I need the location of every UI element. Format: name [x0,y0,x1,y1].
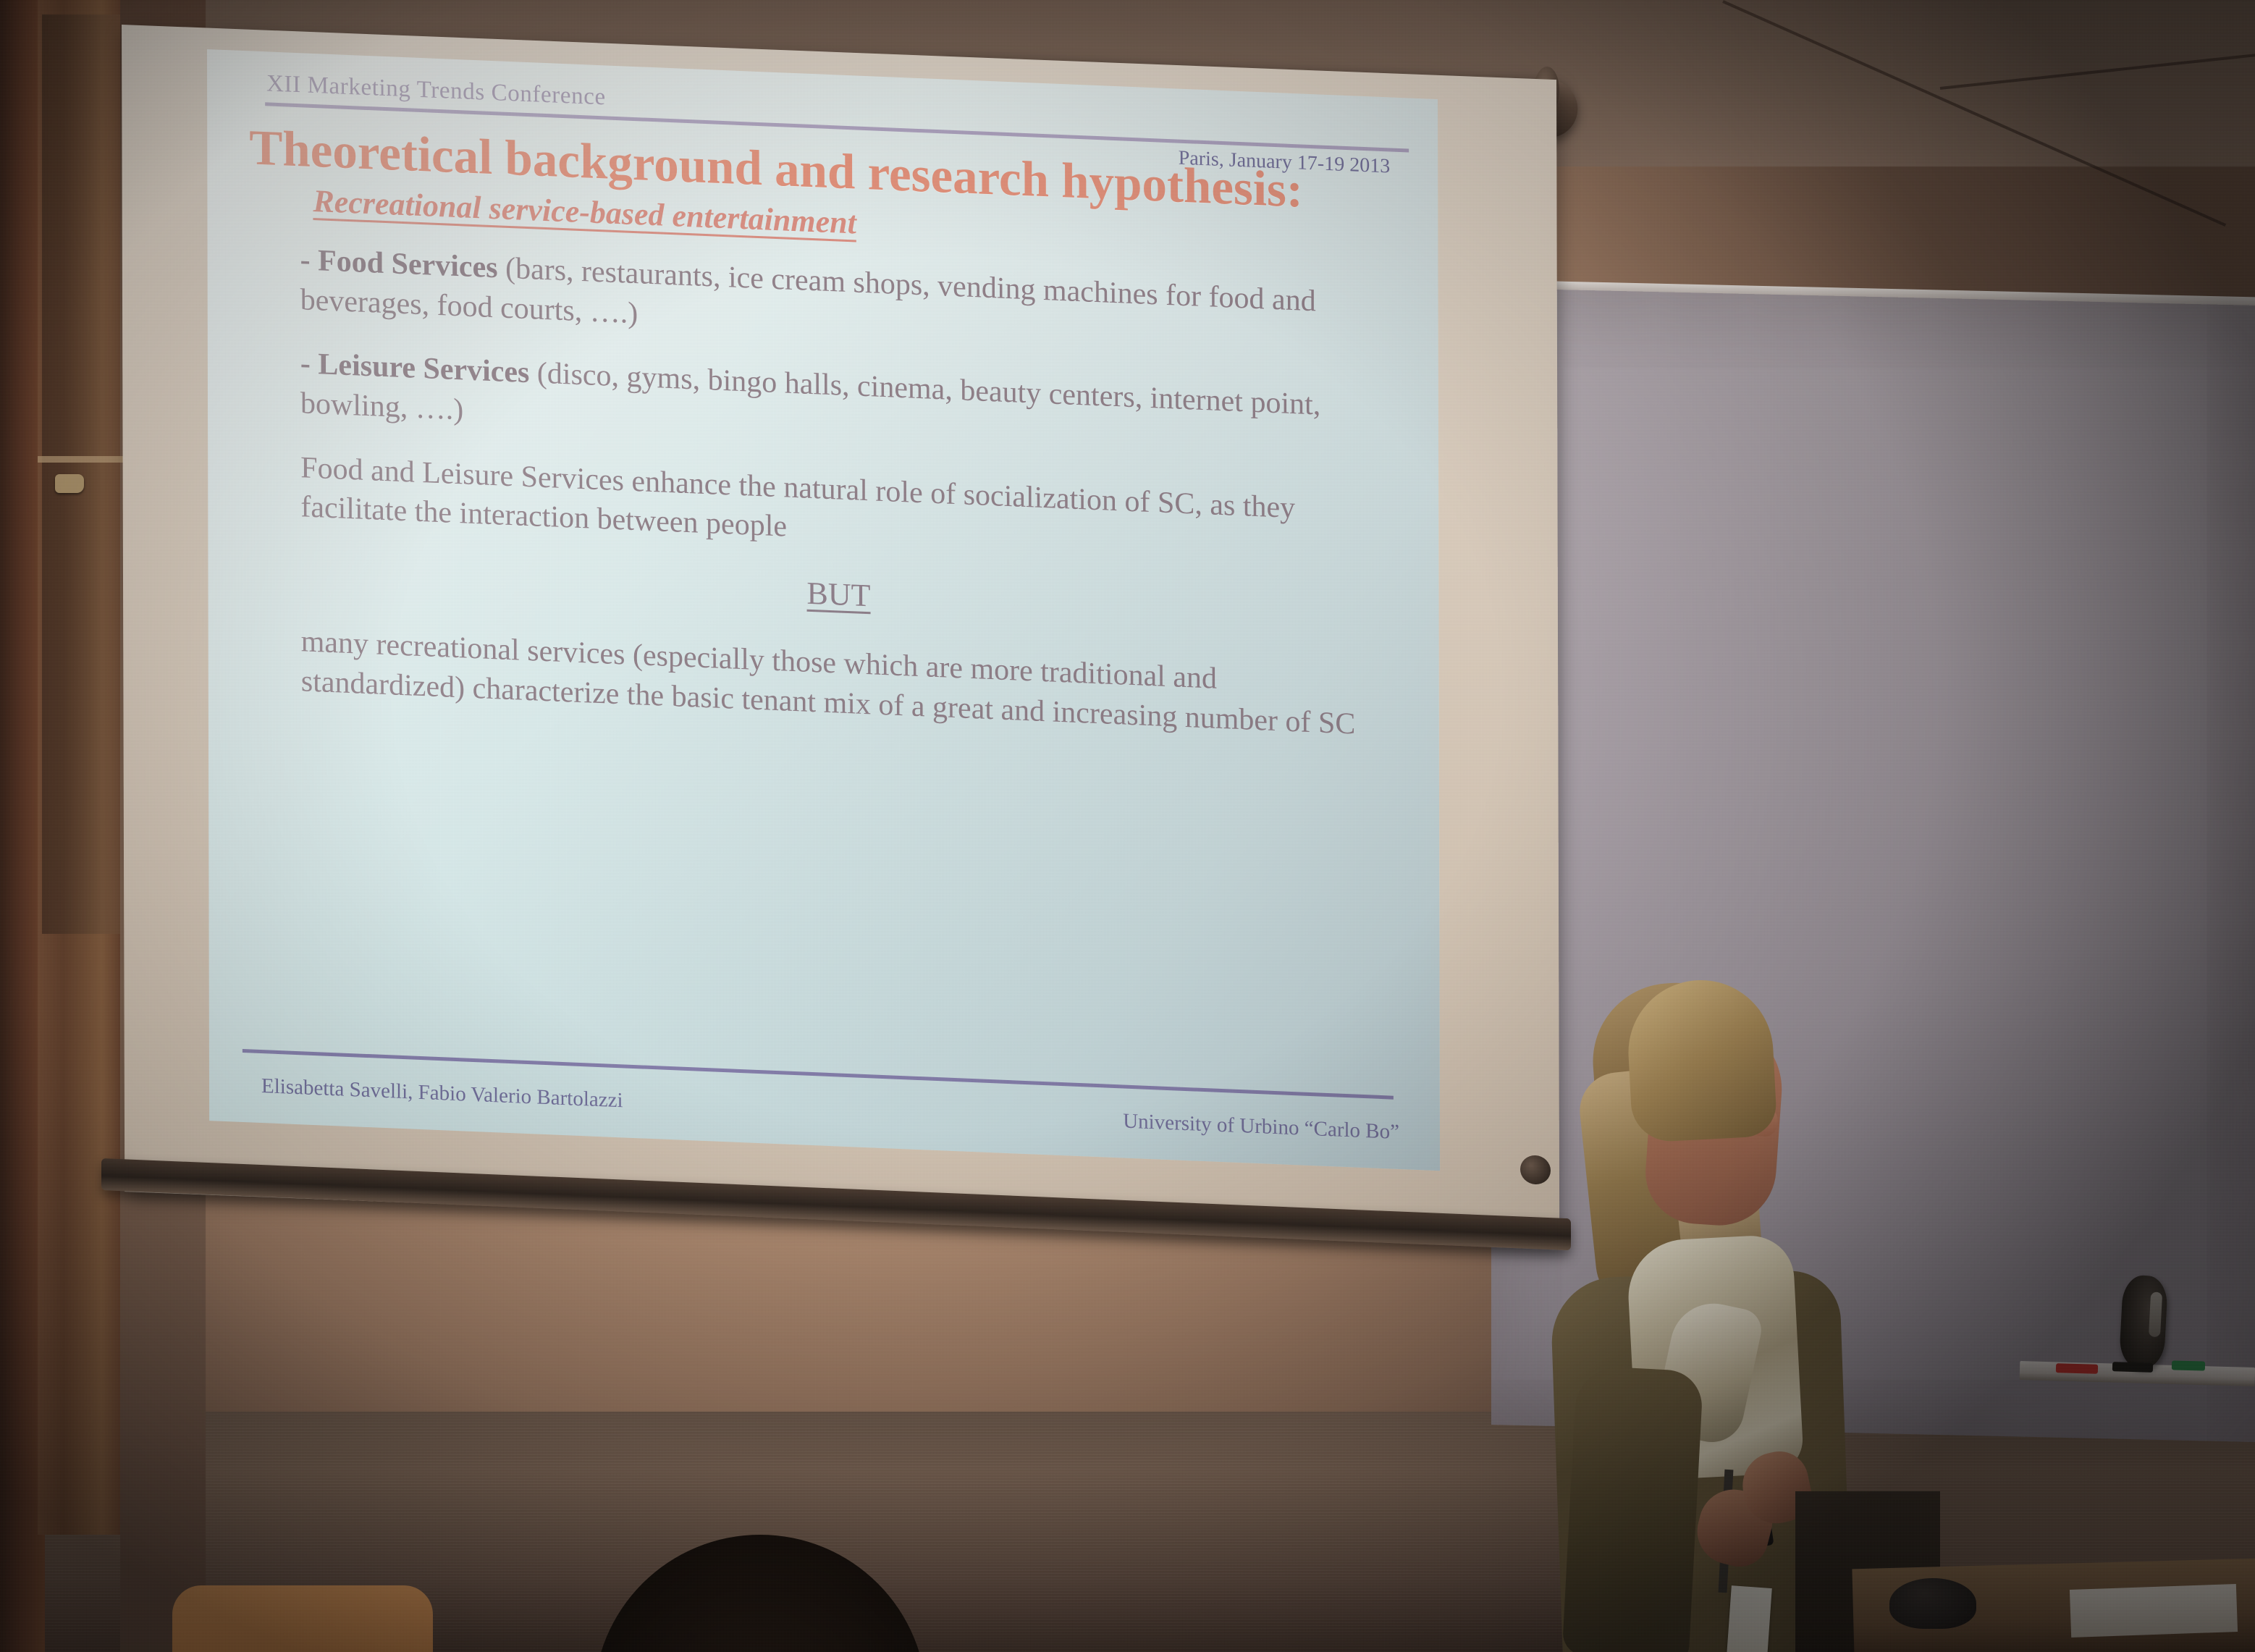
door-ledge [38,456,123,463]
slide-footer-institution: University of Urbino “Carlo Bo” [1123,1109,1399,1145]
presentation-slide: XII Marketing Trends Conference Paris, J… [207,49,1440,1171]
projection-screen-pull-knob[interactable] [1520,1155,1551,1185]
presenter-arm [1562,1365,1704,1652]
door-panel[interactable] [42,14,120,934]
conference-room-photo: XII Marketing Trends Conference Paris, J… [0,0,2255,1652]
bullet-leisure-services: - Leisure Services (disco, gyms, bingo h… [300,345,1376,468]
desk-papers [2070,1584,2238,1638]
slide-paragraph-socialization: Food and Leisure Services enhance the na… [300,448,1376,571]
eraser-felt [2149,1291,2162,1337]
slide-footer-authors: Elisabetta Savelli, Fabio Valerio Bartol… [261,1074,623,1113]
bullet-leisure-services-label: - Leisure Services [300,347,530,390]
bullet-food-services-label: - Food Services [300,243,498,285]
presenter-name-badge [1726,1585,1772,1652]
slide-connector-but-text: BUT [806,575,870,613]
green-marker[interactable] [2172,1360,2205,1370]
slide-body: - Food Services (bars, restaurants, ice … [241,238,1406,746]
whiteboard-eraser[interactable] [2119,1274,2169,1369]
red-marker[interactable] [2056,1363,2098,1374]
projected-slide-area: XII Marketing Trends Conference Paris, J… [207,49,1440,1171]
wooden-chair-back [172,1585,433,1652]
bullet-food-services: - Food Services (bars, restaurants, ice … [300,240,1376,363]
slide-paragraph-tenant-mix: many recreational services (especially t… [301,623,1377,746]
black-marker[interactable] [2112,1362,2153,1373]
slide-connector-but: BUT [300,552,1376,637]
ceiling-tile-seam [1940,54,2255,90]
wall-hook-icon [55,474,84,493]
desk-equipment[interactable] [1889,1578,1976,1629]
